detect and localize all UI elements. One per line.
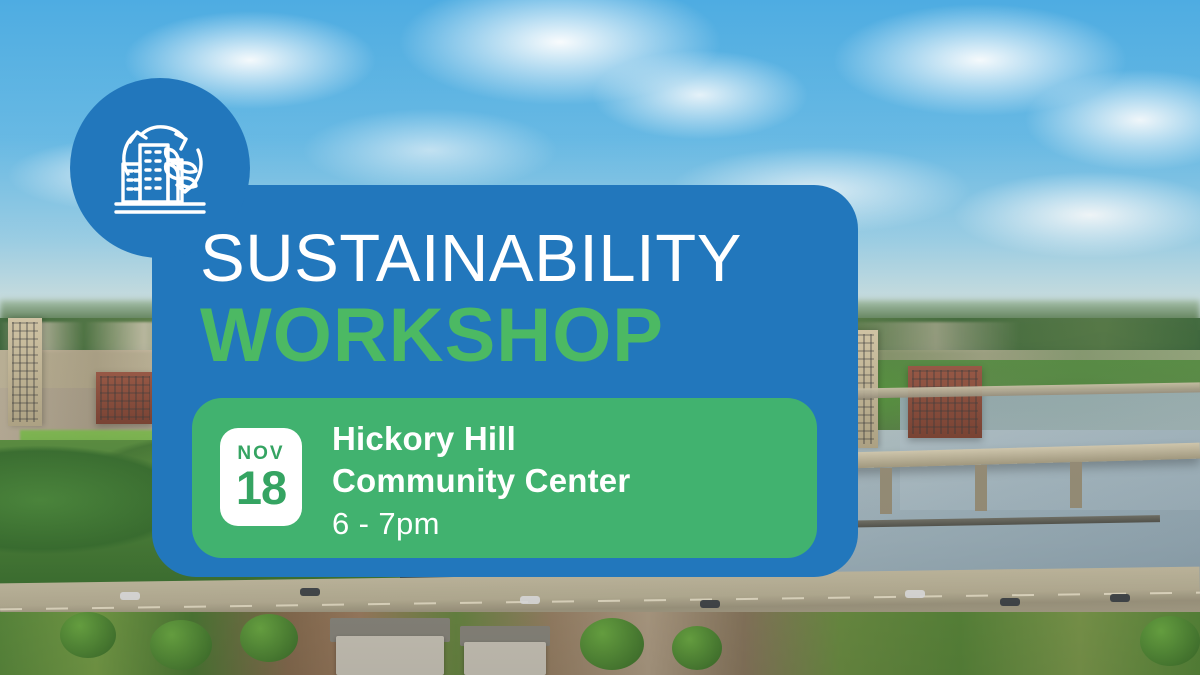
- sustainable-city-recycle-icon: [106, 112, 214, 224]
- title-line-sustainability: SUSTAINABILITY: [200, 222, 840, 296]
- event-details-text: Hickory Hill Community Center 6 - 7pm: [332, 418, 802, 545]
- event-details-card: NOV 18 Hickory Hill Community Center 6 -…: [192, 398, 817, 558]
- event-time: 6 - 7pm: [332, 503, 802, 545]
- event-poster: SUSTAINABILITY WORKSHOP NOV 18 Hickory H…: [0, 0, 1200, 675]
- venue-name-line1: Hickory Hill: [332, 418, 802, 460]
- page-title: SUSTAINABILITY WORKSHOP: [200, 222, 840, 376]
- date-badge: NOV 18: [220, 428, 302, 526]
- date-badge-day: 18: [236, 465, 286, 511]
- title-line-workshop: WORKSHOP: [200, 296, 840, 376]
- venue-name-line2: Community Center: [332, 460, 802, 502]
